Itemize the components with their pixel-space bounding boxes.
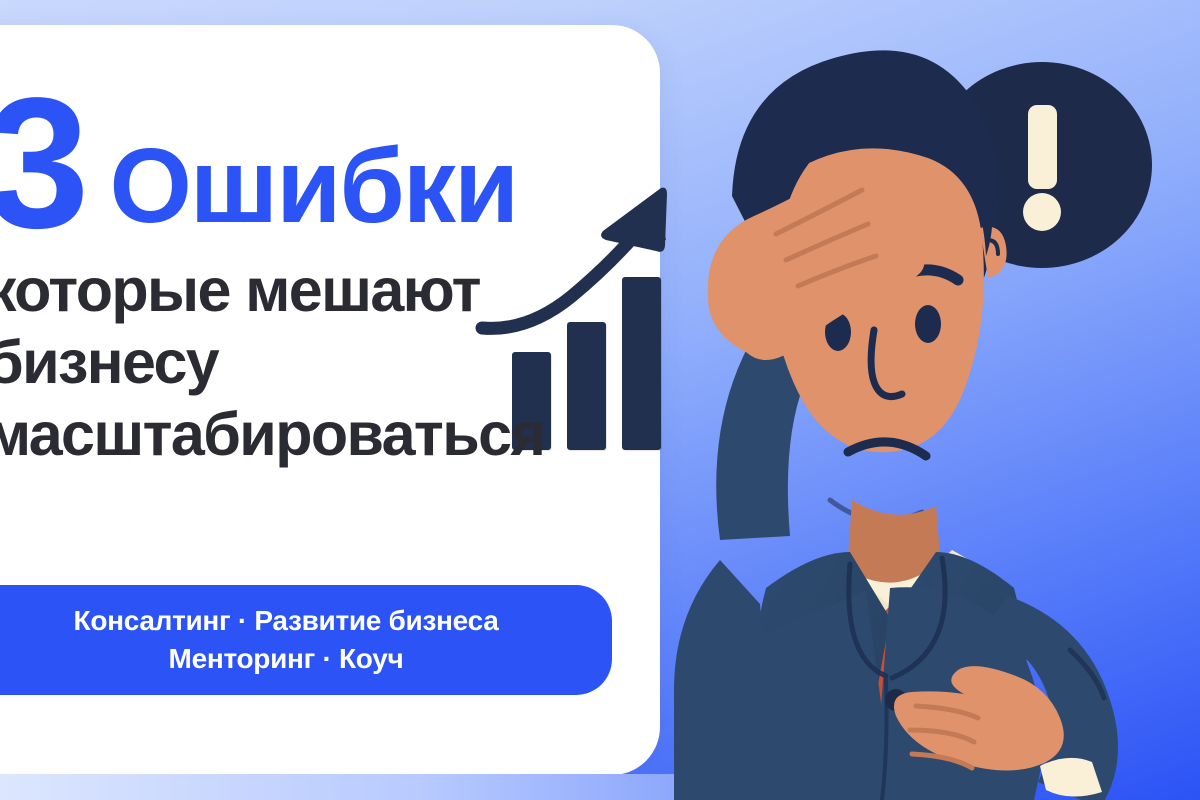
businessman-illustration [600, 0, 1200, 800]
chart-bar-1 [512, 352, 551, 450]
chart-bar-3 [622, 277, 661, 450]
bar-chart-graphic [460, 160, 690, 450]
poster-canvas: 3 Ошибки которые мешают бизнесу масштаби… [0, 0, 1200, 800]
services-badge[interactable]: Консалтинг · Развитие бизнеса Менторинг … [0, 585, 612, 695]
badge-line-1: Консалтинг · Развитие бизнеса [74, 602, 499, 640]
badge-line-2: Менторинг · Коуч [169, 640, 404, 678]
businessman-svg [600, 0, 1200, 800]
eye-right [915, 305, 941, 343]
chart-bar-2 [567, 322, 606, 450]
